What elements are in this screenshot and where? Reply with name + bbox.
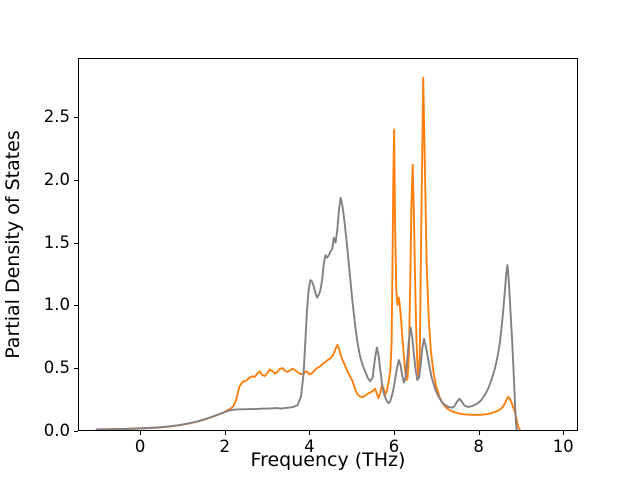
plot-axes [78, 58, 578, 431]
y-tick-label: 2.0 [32, 172, 70, 189]
y-tick-mark [74, 117, 78, 118]
y-tick-label: 0.0 [32, 423, 70, 440]
y-tick-label: 2.5 [32, 109, 70, 126]
y-tick-mark [74, 180, 78, 181]
y-tick-mark [74, 243, 78, 244]
x-tick-mark [479, 431, 480, 435]
x-tick-mark [225, 431, 226, 435]
y-tick-label: 0.5 [32, 360, 70, 377]
x-tick-mark [309, 431, 310, 435]
y-axis-label: Partial Density of States [0, 58, 26, 431]
plot-lines [79, 59, 577, 430]
figure-canvas: Partial Density of States 02468100.00.51… [0, 0, 640, 480]
y-tick-label: 1.0 [32, 297, 70, 314]
y-tick-mark [74, 368, 78, 369]
x-tick-mark [394, 431, 395, 435]
y-tick-label: 1.5 [32, 234, 70, 251]
x-axis-label: Frequency (THz) [78, 451, 578, 470]
data-line-series-2 [97, 198, 517, 430]
y-tick-mark [74, 431, 78, 432]
series-group [97, 78, 520, 430]
data-line-series-1 [97, 78, 520, 430]
x-tick-mark [140, 431, 141, 435]
y-tick-mark [74, 305, 78, 306]
x-tick-mark [563, 431, 564, 435]
